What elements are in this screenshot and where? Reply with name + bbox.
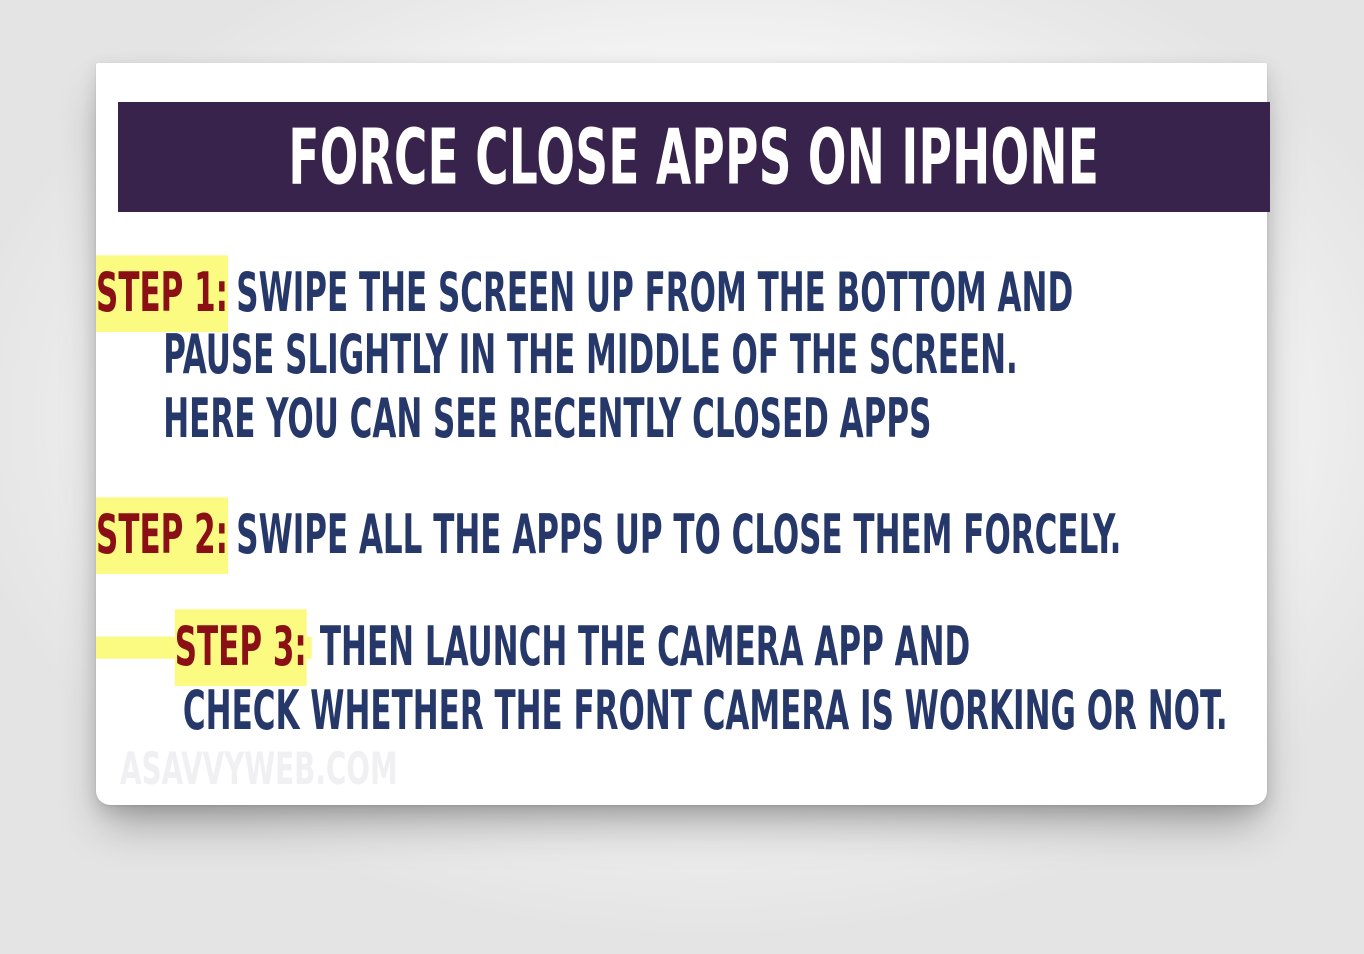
step-1-line-3: HERE YOU CAN SEE RECENTLY CLOSED APPS: [96, 389, 1056, 449]
step-1-label: STEP 1:: [96, 255, 228, 332]
step-3-line-2: CHECK WHETHER THE FRONT CAMERA IS WORKIN…: [96, 681, 1056, 741]
step-block-2: STEP 2:SWIPE ALL THE APPS UP TO CLOSE TH…: [96, 512, 1267, 558]
step-block-3: STEP 3:THEN LAUNCH THE CAMERA APP AND CH…: [96, 624, 1267, 734]
page-canvas: FORCE CLOSE APPS ON IPHONE STEP 1:SWIPE …: [0, 0, 1364, 954]
step-3-line-1: STEP 3:THEN LAUNCH THE CAMERA APP AND: [96, 617, 1056, 677]
title-band: FORCE CLOSE APPS ON IPHONE: [118, 102, 1270, 212]
step-2-text-line-1: SWIPE ALL THE APPS UP TO CLOSE THEM FORC…: [228, 508, 1121, 563]
step-3-label: STEP 3:: [175, 609, 307, 686]
step-3-highlight-pad: [96, 636, 175, 658]
step-2-line-1: STEP 2:SWIPE ALL THE APPS UP TO CLOSE TH…: [96, 505, 1056, 565]
step-1-line-2: PAUSE SLIGHTLY IN THE MIDDLE OF THE SCRE…: [96, 325, 1056, 385]
step-3-text-line-1: THEN LAUNCH THE CAMERA APP AND: [312, 620, 971, 675]
step-3-text-line-2: CHECK WHETHER THE FRONT CAMERA IS WORKIN…: [183, 684, 1228, 739]
step-1-text-line-3: HERE YOU CAN SEE RECENTLY CLOSED APPS: [163, 392, 931, 447]
step-1-line-1: STEP 1:SWIPE THE SCREEN UP FROM THE BOTT…: [96, 263, 1056, 323]
step-1-text-line-2: PAUSE SLIGHTLY IN THE MIDDLE OF THE SCRE…: [163, 328, 1018, 383]
step-block-1: STEP 1:SWIPE THE SCREEN UP FROM THE BOTT…: [96, 270, 1267, 442]
site-watermark: ASAVVYWEB.COM: [120, 748, 398, 793]
step-1-text-line-1: SWIPE THE SCREEN UP FROM THE BOTTOM AND: [228, 266, 1073, 321]
step-2-label: STEP 2:: [96, 497, 228, 574]
page-title: FORCE CLOSE APPS ON IPHONE: [289, 119, 1100, 196]
steps-container: STEP 1:SWIPE THE SCREEN UP FROM THE BOTT…: [96, 212, 1267, 805]
